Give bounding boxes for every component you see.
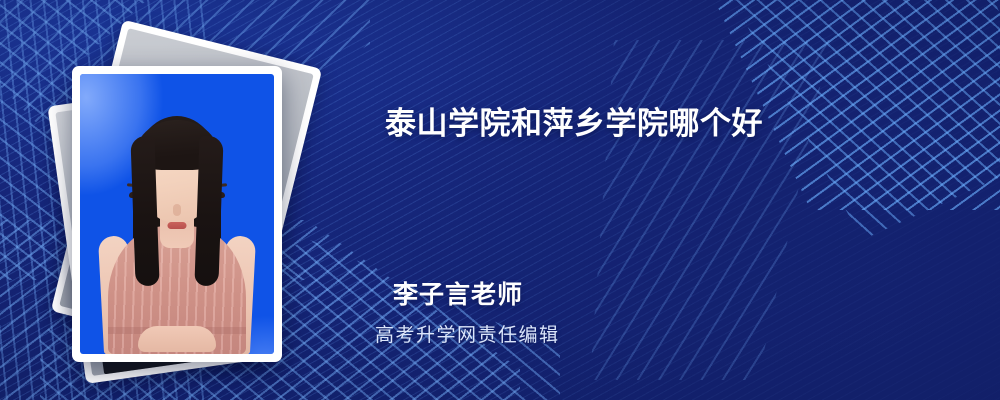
article-headline: 泰山学院和萍乡学院哪个好 bbox=[385, 103, 763, 145]
portrait-mouth bbox=[168, 222, 187, 229]
portrait-photo bbox=[80, 74, 274, 354]
portrait-figure bbox=[80, 104, 274, 354]
portrait-nose bbox=[173, 204, 181, 216]
author-role: 高考升学网责任编辑 bbox=[375, 320, 560, 347]
portrait-photo-card bbox=[72, 66, 282, 362]
portrait-card-stack bbox=[48, 32, 348, 372]
author-name: 李子言老师 bbox=[393, 275, 523, 311]
text-column: 泰山学院和萍乡学院哪个好 李子言老师 高考升学网责任编辑 bbox=[385, 0, 945, 400]
article-cover-banner: 泰山学院和萍乡学院哪个好 李子言老师 高考升学网责任编辑 bbox=[0, 0, 1000, 400]
portrait-hands bbox=[138, 326, 216, 352]
